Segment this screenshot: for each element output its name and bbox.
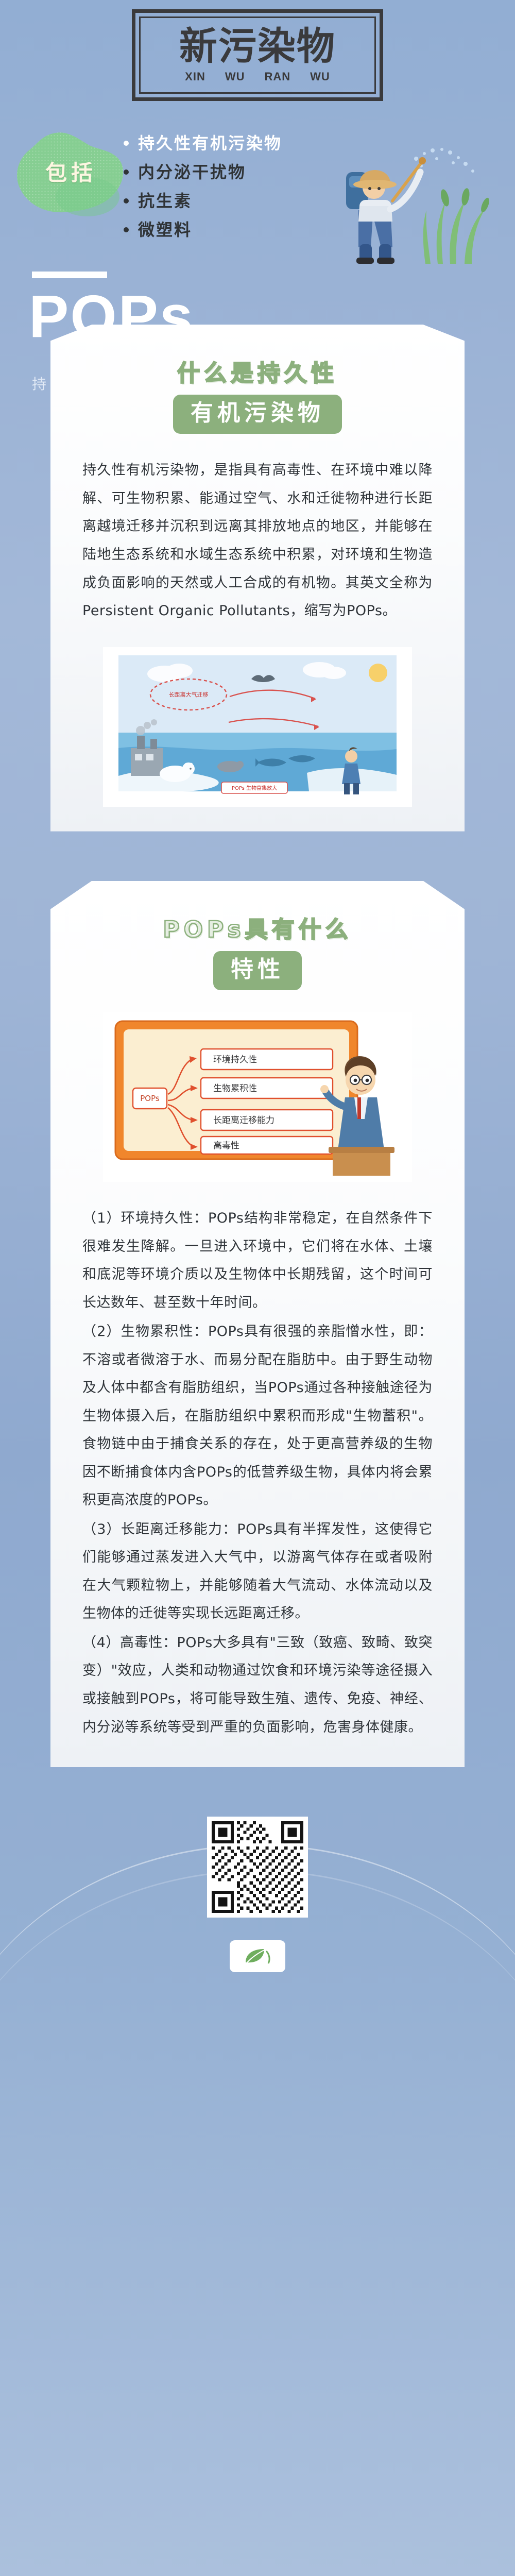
section1-heading-line1: 什么是持久性 — [50, 354, 465, 387]
pops-transport-diagram: 长距离大气迁移 — [103, 647, 412, 807]
property-paragraph-3: （3）长距离迁移能力：POPs具有半挥发性，这使得它们能够通过蒸发进入大气中，以… — [82, 1516, 433, 1628]
pollutant-type-list: 持久性有机污染物 内分泌干扰物 抗生素 微塑料 — [124, 135, 282, 250]
pops-properties-board: POPs 环境持久性 生物累积性 长距离迁移能力 — [103, 1012, 412, 1182]
section2-heading: POPs具有什么 特性 — [50, 881, 465, 990]
svg-text:POPs 生物富集放大: POPs 生物富集放大 — [232, 785, 277, 791]
pinyin-syllable-4: WU — [310, 70, 330, 83]
infographic-page: 新污染物 XIN WU RAN WU 包括 — [0, 0, 515, 2576]
footer-section — [0, 1767, 515, 2009]
section1-heading: 什么是持久性 有机污染物 — [50, 325, 465, 434]
property-paragraph-2: （2）生物累积性：POPs具有很强的亲脂憎水性，即：不溶或者微溶于水、而易分配在… — [82, 1318, 433, 1515]
section1-heading-line2: 有机污染物 — [173, 395, 342, 434]
pinyin-syllable-2: WU — [225, 70, 245, 83]
section-what-are-pops: 什么是持久性 有机污染物 持久性有机污染物，是指具有高毒性、在环境中难以降解、可… — [50, 325, 465, 832]
list-item: 微塑料 — [124, 222, 282, 238]
main-title-box-inner: 新污染物 XIN WU RAN WU — [139, 16, 376, 94]
svg-text:生物累积性: 生物累积性 — [213, 1083, 257, 1094]
header-section: 新污染物 XIN WU RAN WU 包括 — [0, 0, 515, 289]
section2-heading-line1: POPs具有什么 — [50, 911, 465, 944]
list-item: 持久性有机污染物 — [124, 135, 282, 151]
publisher-logo — [230, 1940, 285, 1972]
property-paragraph-4: （4）高毒性：POPs大多具有"三致（致癌、致畸、致突变）"效应，人类和动物通过… — [82, 1629, 433, 1741]
pops-title-rule — [32, 272, 107, 278]
includes-badge: 包括 — [10, 120, 129, 223]
list-item-label: 微塑料 — [138, 222, 192, 238]
list-item-label: 内分泌干扰物 — [138, 164, 246, 180]
list-item: 抗生素 — [124, 193, 282, 209]
qr-code[interactable] — [207, 1817, 308, 1918]
list-item: 内分泌干扰物 — [124, 164, 282, 180]
main-title-box: 新污染物 XIN WU RAN WU — [132, 9, 383, 101]
bullet-dot-icon — [124, 227, 129, 232]
farmer-spraying-illustration — [315, 109, 501, 264]
pinyin-syllable-1: XIN — [185, 70, 205, 83]
svg-text:高毒性: 高毒性 — [213, 1141, 239, 1151]
section2-body: （1）环境持久性：POPs结构非常稳定，在自然条件下很难发生降解。一旦进入环境中… — [82, 1205, 433, 1741]
bullet-dot-icon — [124, 170, 129, 175]
list-item-label: 持久性有机污染物 — [138, 135, 282, 151]
svg-text:环境持久性: 环境持久性 — [213, 1055, 257, 1065]
leaf-logo-icon — [242, 1946, 273, 1967]
qr-code-image — [212, 1821, 303, 1913]
svg-text:POPs: POPs — [140, 1094, 160, 1103]
section2-heading-line2: 特性 — [213, 951, 302, 990]
section-pops-properties: POPs具有什么 特性 POPs — [50, 881, 465, 1767]
pinyin-syllable-3: RAN — [265, 70, 291, 83]
main-title-pinyin: XIN WU RAN WU — [185, 70, 330, 83]
bullet-dot-icon — [124, 198, 129, 204]
section1-paragraph: 持久性有机污染物，是指具有高毒性、在环境中难以降解、可生物积累、能通过空气、水和… — [82, 456, 433, 625]
section1-body: 持久性有机污染物，是指具有高毒性、在环境中难以降解、可生物积累、能通过空气、水和… — [82, 456, 433, 625]
includes-badge-label: 包括 — [10, 120, 129, 223]
main-title-chinese: 新污染物 — [179, 27, 336, 67]
svg-text:长距离大气迁移: 长距离大气迁移 — [169, 691, 209, 698]
list-item-label: 抗生素 — [138, 193, 192, 209]
bullet-dot-icon — [124, 141, 129, 146]
property-paragraph-1: （1）环境持久性：POPs结构非常稳定，在自然条件下很难发生降解。一旦进入环境中… — [82, 1205, 433, 1317]
svg-text:长距离迁移能力: 长距离迁移能力 — [213, 1115, 274, 1126]
